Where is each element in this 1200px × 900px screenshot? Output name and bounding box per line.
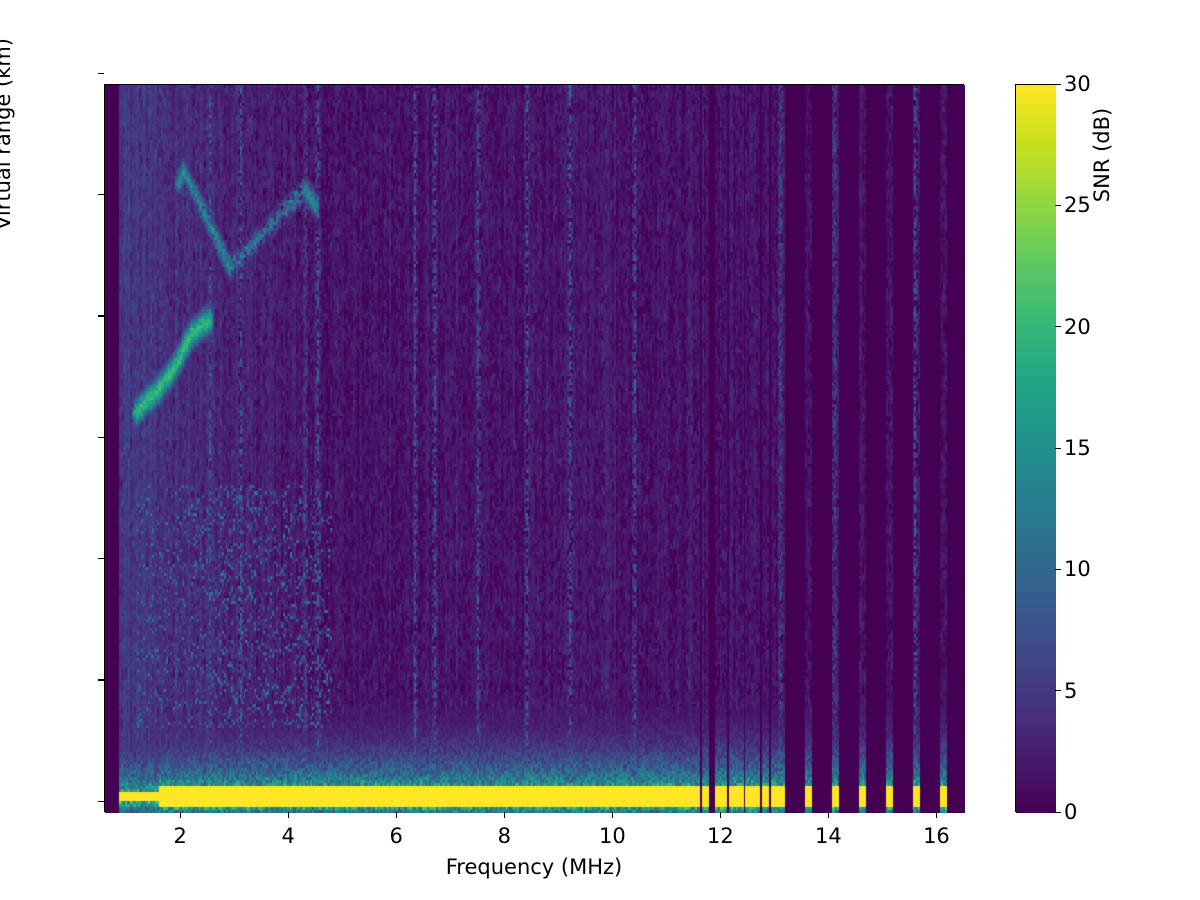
y-axis-label: Virtual range (km) [0, 0, 15, 299]
x-tick-mark [180, 812, 181, 818]
colorbar-label: SNR (dB) [1090, 0, 1114, 320]
x-tick-label: 8 [498, 824, 511, 848]
x-axis-label: Frequency (MHz) [104, 855, 964, 879]
x-tick-mark [828, 812, 829, 818]
colorbar-tick-label: 30 [1064, 72, 1091, 96]
ionogram-figure: IRF Uppsala SDR Ionosonde UP158 2025-10-… [0, 0, 1200, 900]
colorbar-tick-label: 5 [1064, 679, 1077, 703]
y-tick-mark [98, 801, 104, 802]
colorbar-tick-label: 20 [1064, 315, 1091, 339]
y-tick-mark [98, 73, 104, 74]
y-tick-mark [98, 558, 104, 559]
x-tick-label: 10 [599, 824, 626, 848]
y-tick-mark [98, 437, 104, 438]
x-tick-mark [504, 812, 505, 818]
x-tick-label: 14 [815, 824, 842, 848]
x-tick-label: 12 [707, 824, 734, 848]
ionogram-heatmap [105, 85, 965, 813]
x-tick-mark [936, 812, 937, 818]
colorbar[interactable] [1015, 84, 1055, 812]
colorbar-tick-mark [1055, 690, 1061, 691]
x-tick-label: 6 [390, 824, 403, 848]
x-tick-label: 2 [173, 824, 186, 848]
y-tick-mark [98, 194, 104, 195]
colorbar-tick-mark [1055, 205, 1061, 206]
colorbar-tick-label: 10 [1064, 557, 1091, 581]
colorbar-tick-mark [1055, 448, 1061, 449]
x-tick-mark [612, 812, 613, 818]
colorbar-tick-label: 15 [1064, 436, 1091, 460]
x-tick-mark [288, 812, 289, 818]
colorbar-tick-mark [1055, 84, 1061, 85]
colorbar-tick-mark [1055, 569, 1061, 570]
x-tick-mark [396, 812, 397, 818]
y-tick-mark [98, 679, 104, 680]
colorbar-gradient [1016, 85, 1056, 813]
ionogram-plot-area[interactable] [104, 84, 964, 812]
x-tick-label: 16 [923, 824, 950, 848]
colorbar-tick-label: 25 [1064, 193, 1091, 217]
colorbar-tick-mark [1055, 812, 1061, 813]
x-tick-mark [720, 812, 721, 818]
x-tick-label: 4 [282, 824, 295, 848]
y-tick-mark [98, 315, 104, 316]
colorbar-tick-label: 0 [1064, 800, 1077, 824]
colorbar-tick-mark [1055, 326, 1061, 327]
